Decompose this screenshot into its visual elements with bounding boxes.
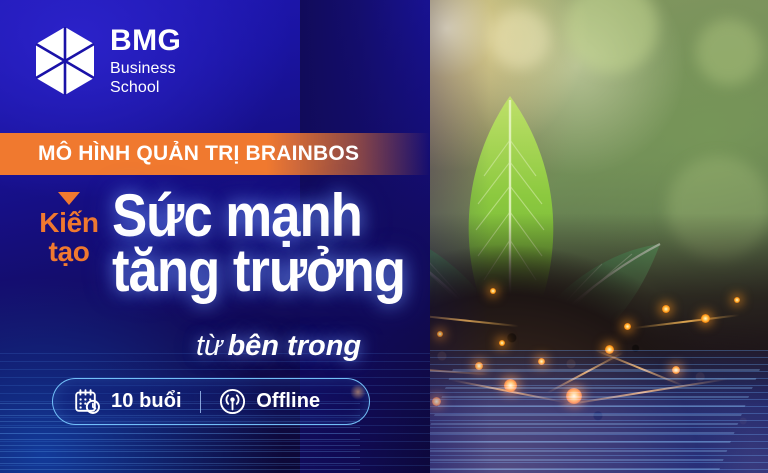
accent-glow-dot xyxy=(350,384,366,400)
pill-sessions[interactable]: 10 buổi xyxy=(74,388,182,415)
brand-logo-text: BMG Business School xyxy=(110,26,181,96)
promo-banner: BMG Business School MÔ HÌNH QUẢN TRỊ BRA… xyxy=(0,0,768,473)
pill-sessions-label: 10 buổi xyxy=(111,390,182,413)
kien-tao-badge: Kiến tạo xyxy=(30,192,108,266)
info-pill[interactable]: 10 buổi Offline xyxy=(52,378,370,425)
subline-light: từ xyxy=(196,330,222,362)
brand-name: BMG xyxy=(110,26,181,56)
subline-bold: bên trong xyxy=(227,330,361,362)
pill-format[interactable]: Offline xyxy=(219,388,320,415)
pill-divider xyxy=(200,391,202,413)
hexagon-six-segment-logo-icon xyxy=(34,26,96,96)
ribbon-banner: MÔ HÌNH QUẢN TRỊ BRAINBOS xyxy=(0,133,430,175)
headline-subline: từbên trong xyxy=(196,330,361,363)
broadcast-signal-icon xyxy=(219,388,246,415)
brand-logo[interactable]: BMG Business School xyxy=(34,26,181,96)
kien-tao-line2: tạo xyxy=(30,238,108,267)
calendar-clock-icon xyxy=(74,388,101,415)
headline-block: Sức mạnh tăng trưởng xyxy=(112,188,442,298)
triangle-down-icon xyxy=(58,192,80,205)
brand-line-business: Business xyxy=(110,61,181,77)
kien-tao-line1: Kiến xyxy=(30,209,108,238)
headline-line-1: Sức mạnh xyxy=(112,188,402,243)
headline-line-2: tăng trưởng xyxy=(112,243,402,298)
pill-format-label: Offline xyxy=(256,390,320,413)
ribbon-text: MÔ HÌNH QUẢN TRỊ BRAINBOS xyxy=(38,142,359,166)
brand-line-school: School xyxy=(110,80,181,96)
